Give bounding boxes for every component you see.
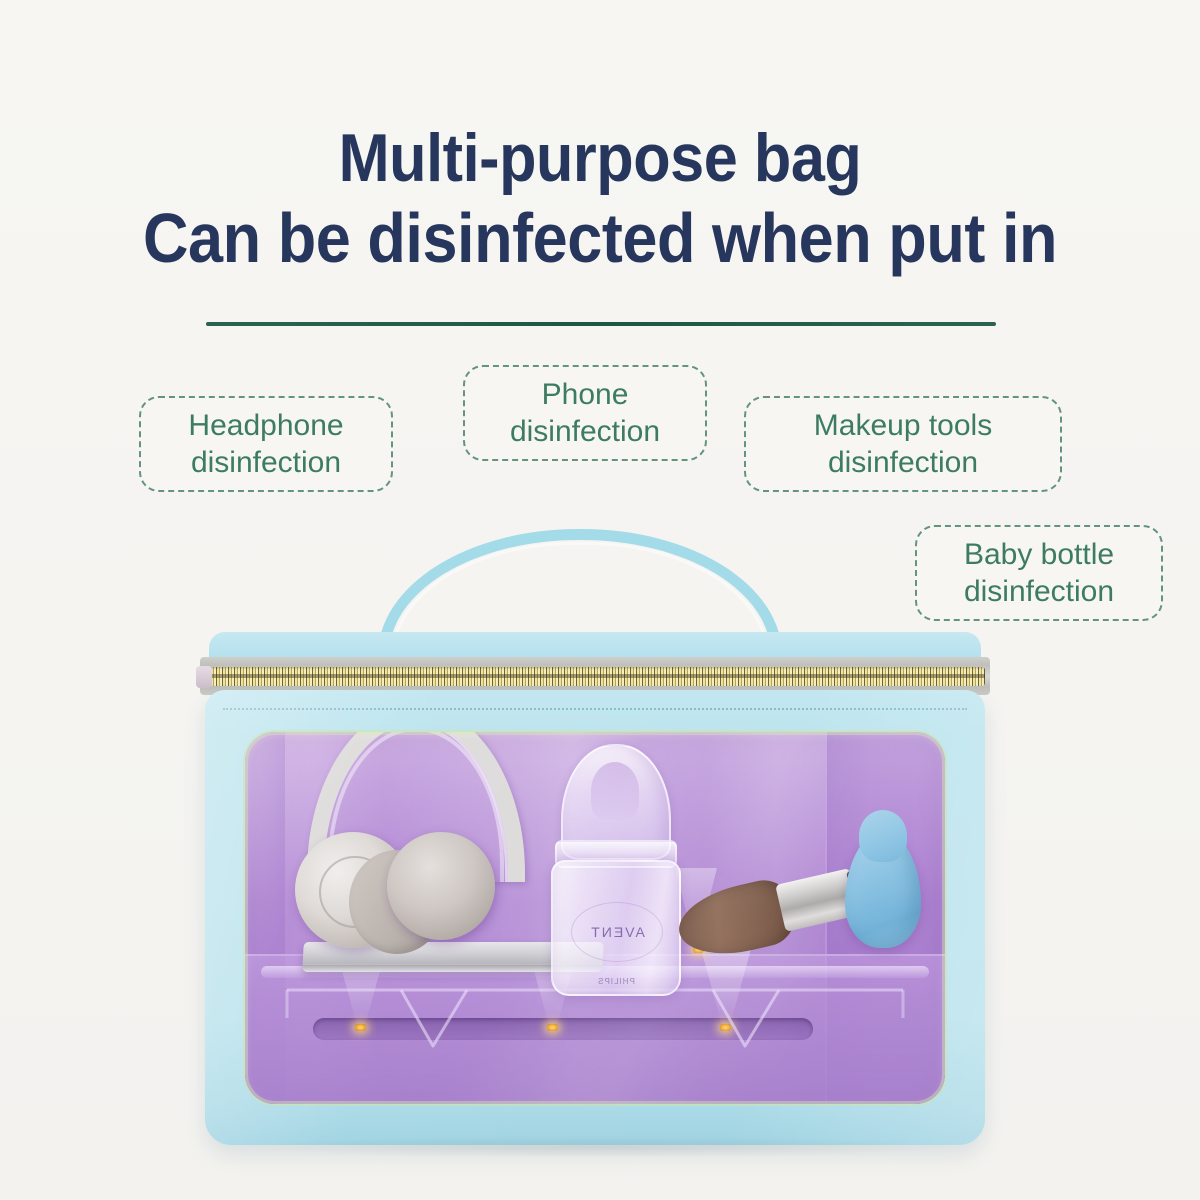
- baby-bottle: AVENT PHILIPS: [545, 744, 681, 992]
- product-graphic-canvas: Multi-purpose bag Can be disinfected whe…: [0, 0, 1200, 1200]
- uv-led: [355, 1024, 366, 1031]
- badge-headphone-disinfection: Headphone disinfection: [139, 396, 393, 492]
- uv-led: [547, 1024, 558, 1031]
- badge-bottle-line-1: Baby bottle: [964, 536, 1114, 573]
- headphones: [291, 732, 541, 956]
- badge-bottle-line-2: disinfection: [964, 573, 1114, 610]
- headline-line-1: Multi-purpose bag: [60, 118, 1140, 198]
- title-divider: [206, 322, 996, 326]
- badge-headphone-line-1: Headphone: [188, 407, 343, 444]
- bottle-maker-label: PHILIPS: [553, 977, 679, 986]
- bag-transparent-window: AVENT PHILIPS: [245, 732, 945, 1104]
- zipper-center-seam: [205, 674, 985, 678]
- bottle-brand-logo: AVENT: [571, 902, 663, 962]
- headphone-ear-cup-right: [387, 832, 495, 940]
- page-title: Multi-purpose bag Can be disinfected whe…: [0, 118, 1200, 278]
- uv-led: [720, 1024, 731, 1031]
- badge-makeup-line-2: disinfection: [828, 444, 978, 481]
- bottle-body: AVENT PHILIPS: [551, 860, 681, 996]
- badge-makeup-tools-disinfection: Makeup tools disinfection: [744, 396, 1062, 492]
- badge-makeup-line-1: Makeup tools: [814, 407, 992, 444]
- badge-baby-bottle-disinfection: Baby bottle disinfection: [915, 525, 1163, 621]
- badge-phone-line-1: Phone: [542, 376, 629, 413]
- badge-phone-line-2: disinfection: [510, 413, 660, 450]
- badge-headphone-line-2: disinfection: [191, 444, 341, 481]
- uv-led-strip: [313, 1018, 813, 1040]
- badge-phone-disinfection: Phone disinfection: [463, 365, 707, 461]
- headline-line-2: Can be disinfected when put in: [60, 198, 1140, 278]
- bag-body: AVENT PHILIPS: [205, 690, 985, 1145]
- product-ground-shadow: [232, 1136, 958, 1158]
- zipper-pull: [196, 666, 212, 688]
